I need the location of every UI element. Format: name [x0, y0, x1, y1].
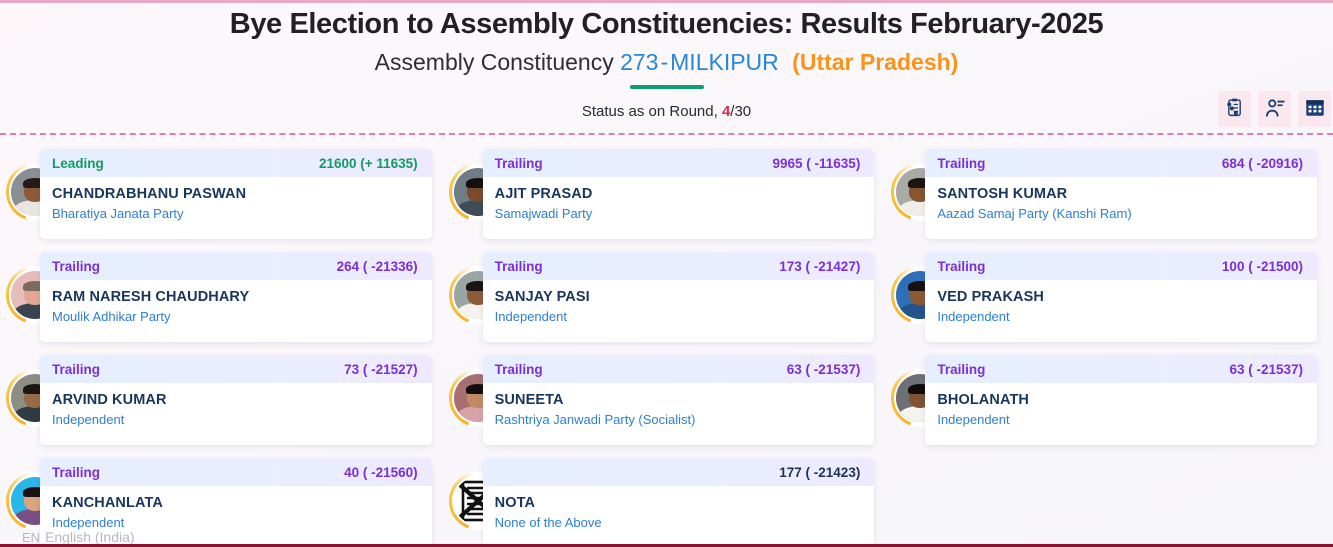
candidate-card-header: Trailing9965 ( -11635) — [483, 149, 875, 177]
candidate-party: Independent — [52, 412, 418, 427]
candidate-card-body: SANJAY PASIIndependent — [483, 280, 875, 324]
constituencywise-results-button[interactable] — [1218, 91, 1251, 127]
candidate-card-body: VED PRAKASHIndependent — [925, 280, 1317, 324]
candidate-name: RAM NARESH CHAUDHARY — [52, 289, 418, 305]
page-title: Bye Election to Assembly Constituencies:… — [0, 6, 1333, 42]
candidate-card-body: CHANDRABHANU PASWANBharatiya Janata Part… — [40, 177, 432, 221]
candidate-votes: 684 ( -20916) — [1222, 156, 1303, 171]
candidate-status: Trailing — [52, 465, 100, 480]
candidate-party: Aazad Samaj Party (Kanshi Ram) — [937, 206, 1303, 221]
candidate-card-header: Trailing63 ( -21537) — [925, 355, 1317, 383]
candidate-card[interactable]: Trailing73 ( -21527)ARVIND KUMARIndepend… — [40, 355, 432, 445]
candidate-card[interactable]: Trailing63 ( -21537)SUNEETARashtriya Jan… — [483, 355, 875, 445]
candidate-status: Leading — [52, 156, 104, 171]
candidate-status: Trailing — [937, 156, 985, 171]
candidate-card-header: Trailing100 ( -21500) — [925, 252, 1317, 280]
candidate-card-header: Trailing684 ( -20916) — [925, 149, 1317, 177]
candidate-status: Trailing — [52, 362, 100, 377]
constituency-number: 273 — [620, 49, 658, 75]
candidate-votes: 63 ( -21537) — [1229, 362, 1303, 377]
candidate-party: Moulik Adhikar Party — [52, 309, 418, 324]
subtitle-dash: - — [658, 49, 670, 75]
candidate-party: Rashtriya Janwadi Party (Socialist) — [495, 412, 861, 427]
candidate-card-body: BHOLANATHIndependent — [925, 383, 1317, 427]
candidate-name: NOTA — [495, 495, 861, 511]
candidate-card-header: Trailing40 ( -21560) — [40, 458, 432, 486]
candidate-card[interactable]: Trailing9965 ( -11635)AJIT PRASADSamajwa… — [483, 149, 875, 239]
candidate-status: Trailing — [495, 156, 543, 171]
candidate-card-header: 177 ( -21423) — [483, 458, 875, 486]
candidate-card-header: Trailing173 ( -21427) — [483, 252, 875, 280]
candidate-name: BHOLANATH — [937, 392, 1303, 408]
candidate-card[interactable]: 177 ( -21423)NOTANone of the Above — [483, 458, 875, 547]
candidate-party: Independent — [937, 412, 1303, 427]
candidate-status: Trailing — [495, 362, 543, 377]
candidate-card-body: RAM NARESH CHAUDHARYMoulik Adhikar Party — [40, 280, 432, 324]
candidate-cell: Trailing63 ( -21537)SUNEETARashtriya Jan… — [449, 355, 885, 453]
candidate-votes: 9965 ( -11635) — [773, 156, 861, 171]
candidate-party: None of the Above — [495, 515, 861, 530]
candidate-status: Trailing — [937, 259, 985, 274]
candidate-name: SUNEETA — [495, 392, 861, 408]
candidate-votes: 73 ( -21527) — [344, 362, 418, 377]
candidate-votes: 177 ( -21423) — [779, 465, 860, 480]
candidate-party: Independent — [495, 309, 861, 324]
calendar-grid-icon — [1304, 97, 1326, 122]
person-list-icon — [1264, 97, 1286, 122]
roundwise-results-button[interactable] — [1298, 91, 1331, 127]
candidate-cell: Trailing63 ( -21537)BHOLANATHIndependent — [891, 355, 1327, 453]
page-header: Bye Election to Assembly Constituencies:… — [0, 0, 1333, 89]
top-accent-line — [0, 0, 1333, 3]
candidate-card[interactable]: Leading21600 (+ 11635)CHANDRABHANU PASWA… — [40, 149, 432, 239]
candidate-cell: Trailing264 ( -21336)RAM NARESH CHAUDHAR… — [6, 252, 442, 350]
candidate-status: Trailing — [937, 362, 985, 377]
candidate-card-body: AJIT PRASADSamajwadi Party — [483, 177, 875, 221]
state-name: (Uttar Pradesh) — [792, 49, 958, 75]
candidate-cell: Trailing100 ( -21500)VED PRAKASHIndepend… — [891, 252, 1327, 350]
constituency-subtitle: Assembly Constituency 273-MILKIPUR (Utta… — [0, 48, 1333, 78]
candidate-cell: Trailing684 ( -20916)SANTOSH KUMARAazad … — [891, 149, 1327, 247]
candidate-name: ARVIND KUMAR — [52, 392, 418, 408]
round-status: Status as on Round, 4/30 — [582, 103, 751, 120]
candidate-votes: 40 ( -21560) — [344, 465, 418, 480]
candidate-cell: Trailing9965 ( -11635)AJIT PRASADSamajwa… — [449, 149, 885, 247]
candidate-card-body: ARVIND KUMARIndependent — [40, 383, 432, 427]
results-page: Bye Election to Assembly Constituencies:… — [0, 0, 1333, 547]
candidate-card-header: Leading21600 (+ 11635) — [40, 149, 432, 177]
candidate-cell: Trailing173 ( -21427)SANJAY PASIIndepend… — [449, 252, 885, 350]
candidate-grid: Leading21600 (+ 11635)CHANDRABHANU PASWA… — [0, 135, 1333, 547]
candidate-votes: 63 ( -21537) — [787, 362, 861, 377]
candidate-card-header: Trailing264 ( -21336) — [40, 252, 432, 280]
candidate-votes: 21600 (+ 11635) — [319, 156, 418, 171]
candidate-party: Bharatiya Janata Party — [52, 206, 418, 221]
clipboard-results-icon — [1224, 97, 1245, 121]
status-bar: Status as on Round, 4/30 — [0, 89, 1333, 133]
candidate-status: Trailing — [52, 259, 100, 274]
candidate-name: CHANDRABHANU PASWAN — [52, 186, 418, 202]
candidate-votes: 173 ( -21427) — [779, 259, 860, 274]
candidate-card-body: SUNEETARashtriya Janwadi Party (Socialis… — [483, 383, 875, 427]
candidate-cell: Trailing73 ( -21527)ARVIND KUMARIndepend… — [6, 355, 442, 453]
round-total: /30 — [730, 103, 751, 120]
candidate-party: Independent — [52, 515, 418, 530]
candidate-card-header: Trailing73 ( -21527) — [40, 355, 432, 383]
candidate-card[interactable]: Trailing100 ( -21500)VED PRAKASHIndepend… — [925, 252, 1317, 342]
candidate-cell: 177 ( -21423)NOTANone of the Above — [449, 458, 885, 547]
candidate-card-header: Trailing63 ( -21537) — [483, 355, 875, 383]
candidatewise-results-button[interactable] — [1258, 91, 1291, 127]
candidate-cell: Leading21600 (+ 11635)CHANDRABHANU PASWA… — [6, 149, 442, 247]
candidate-party: Independent — [937, 309, 1303, 324]
candidate-name: SANJAY PASI — [495, 289, 861, 305]
candidate-party: Samajwadi Party — [495, 206, 861, 221]
candidate-card-body: SANTOSH KUMARAazad Samaj Party (Kanshi R… — [925, 177, 1317, 221]
constituency-label: Assembly Constituency — [375, 49, 614, 75]
candidate-votes: 264 ( -21336) — [337, 259, 418, 274]
candidate-name: VED PRAKASH — [937, 289, 1303, 305]
candidate-cell: Trailing40 ( -21560)KANCHANLATAIndepende… — [6, 458, 442, 547]
round-status-prefix: Status as on Round, — [582, 103, 718, 120]
candidate-card-body: NOTANone of the Above — [483, 486, 875, 530]
candidate-card[interactable]: Trailing63 ( -21537)BHOLANATHIndependent — [925, 355, 1317, 445]
candidate-name: KANCHANLATA — [52, 495, 418, 511]
toolbar — [1218, 91, 1331, 127]
candidate-votes: 100 ( -21500) — [1222, 259, 1303, 274]
candidate-card[interactable]: Trailing173 ( -21427)SANJAY PASIIndepend… — [483, 252, 875, 342]
candidate-status: Trailing — [495, 259, 543, 274]
candidate-card[interactable]: Trailing684 ( -20916)SANTOSH KUMARAazad … — [925, 149, 1317, 239]
candidate-card-body: KANCHANLATAIndependent — [40, 486, 432, 530]
candidate-card[interactable]: Trailing264 ( -21336)RAM NARESH CHAUDHAR… — [40, 252, 432, 342]
constituency-name: MILKIPUR — [670, 49, 779, 75]
candidate-name: SANTOSH KUMAR — [937, 186, 1303, 202]
candidate-card[interactable]: Trailing40 ( -21560)KANCHANLATAIndepende… — [40, 458, 432, 547]
candidate-name: AJIT PRASAD — [495, 186, 861, 202]
